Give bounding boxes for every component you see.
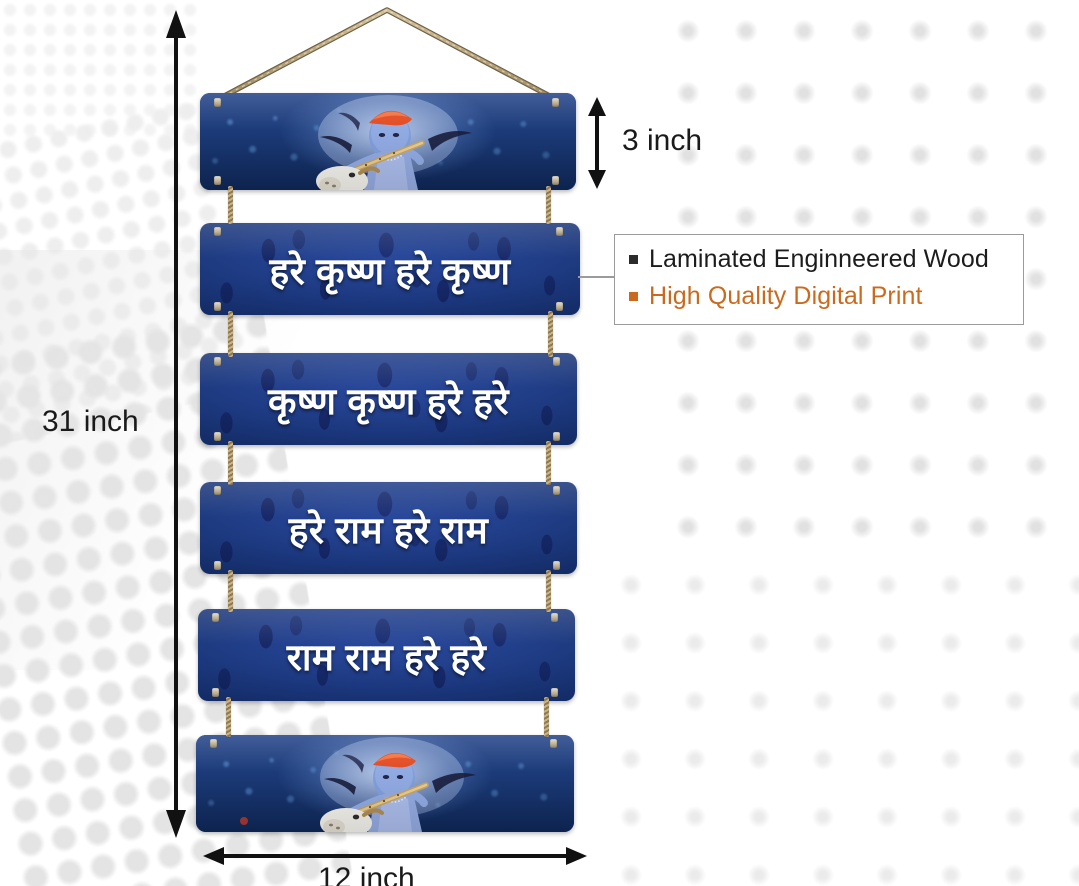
rope-link: [228, 186, 233, 224]
plank-height-dimension-label: 3 inch: [622, 124, 702, 158]
eyelet: [552, 176, 559, 185]
eyelet: [214, 302, 221, 311]
bullet-square-icon: [629, 255, 638, 264]
eyelet: [214, 432, 221, 441]
eyelet: [551, 688, 558, 697]
plank-line-4: राम राम हरे हरे: [198, 609, 575, 701]
rope-link: [544, 697, 549, 737]
eyelet: [556, 227, 563, 236]
eyelet: [212, 688, 219, 697]
eyelet: [553, 486, 560, 495]
rope-link: [228, 570, 233, 612]
eyelet: [214, 176, 221, 185]
height-dimension-label: 31 inch: [42, 405, 139, 439]
plank-line-3: हरे राम हरे राम: [200, 482, 577, 574]
plank-mantra-text: हरे राम हरे राम: [200, 482, 577, 574]
eyelet: [214, 98, 221, 107]
rope-link: [226, 697, 231, 737]
eyelet: [214, 357, 221, 366]
eyelet: [553, 561, 560, 570]
plank-line-1: हरे कृष्ण हरे कृष्ण: [200, 223, 580, 315]
height-dimension-arrow: [160, 8, 192, 840]
width-dimension-label: 12 inch: [318, 862, 415, 886]
plank-top-image: [200, 93, 576, 190]
plank-mantra-text: हरे कृष्ण हरे कृष्ण: [200, 223, 580, 315]
callout-leader-line: [578, 276, 616, 278]
eyelet: [550, 739, 557, 748]
plank-sheen: [200, 93, 576, 190]
feature-label-print: High Quality Digital Print: [649, 281, 923, 312]
rope-link: [546, 186, 551, 224]
plank-height-dimension-arrow: [582, 96, 612, 190]
plank-sheen: [196, 735, 574, 832]
feature-label-material: Laminated Enginneered Wood: [649, 244, 989, 275]
eyelet: [214, 486, 221, 495]
feature-row-material: Laminated Enginneered Wood: [629, 244, 1009, 275]
rope-hanger-icon: [205, 4, 575, 104]
plank-bottom-image: [196, 735, 574, 832]
plank-mantra-text: कृष्ण कृष्ण हरे हरे: [200, 353, 577, 445]
rope-link: [228, 441, 233, 485]
eyelet: [212, 613, 219, 622]
rope-link: [548, 311, 553, 357]
eyelet: [210, 739, 217, 748]
plank-mantra-text: राम राम हरे हरे: [198, 609, 575, 701]
eyelet: [214, 227, 221, 236]
eyelet: [553, 432, 560, 441]
bullet-square-icon: [629, 292, 638, 301]
features-callout-box: Laminated Enginneered Wood High Quality …: [614, 234, 1024, 325]
rope-link: [546, 441, 551, 485]
rope-link: [228, 311, 233, 357]
eyelet: [552, 98, 559, 107]
product-image-canvas: हरे कृष्ण हरे कृष्ण कृष्ण कृष्ण हरे हरे: [0, 0, 1079, 886]
eyelet: [556, 302, 563, 311]
eyelet: [551, 613, 558, 622]
feature-row-print: High Quality Digital Print: [629, 281, 1009, 312]
eyelet: [214, 561, 221, 570]
plank-line-2: कृष्ण कृष्ण हरे हरे: [200, 353, 577, 445]
rope-link: [546, 570, 551, 612]
eyelet: [553, 357, 560, 366]
